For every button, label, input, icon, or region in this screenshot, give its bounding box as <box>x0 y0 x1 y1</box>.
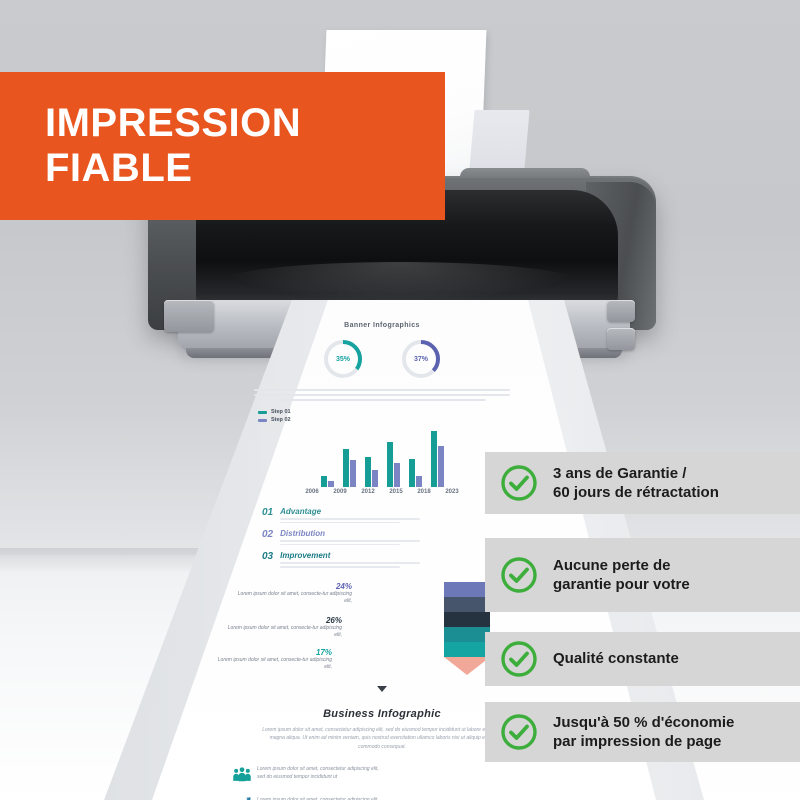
printer-button-upper-right <box>607 300 635 322</box>
funnel-label-3: 17% Lorem ipsum dolor sit amet, consecte… <box>216 648 332 672</box>
bar <box>343 449 349 487</box>
step-title: Advantage <box>280 507 420 516</box>
text-line <box>278 399 486 401</box>
text-line <box>280 522 400 524</box>
check-circle-icon <box>499 712 539 752</box>
axis-tick-label: 2018 <box>415 489 434 495</box>
axis-tick-label: 2023 <box>443 489 462 495</box>
bar-group <box>321 476 334 487</box>
check-circle-icon <box>499 639 539 679</box>
feature-line: Qualité constante <box>553 649 679 668</box>
step-title: Improvement <box>280 551 420 560</box>
bar <box>394 463 400 487</box>
feature-line: Aucune perte de <box>553 556 690 575</box>
funnel-text: Lorem ipsum dolor sit amet, consecte-tur… <box>226 625 342 640</box>
feature-row-1: 3 ans de Garantie / 60 jours de rétracta… <box>485 452 800 514</box>
printer-button-lower-right <box>607 328 635 350</box>
funnel-percent: 24% <box>236 582 352 591</box>
headline-line-2: FIABLE <box>45 146 445 191</box>
placeholder-text-block <box>232 389 532 401</box>
feature-line: 60 jours de rétractation <box>553 483 719 502</box>
feature-line: par impression de page <box>553 732 734 751</box>
donut-value-1: 35% <box>321 337 365 381</box>
bar <box>387 442 393 487</box>
text-line <box>280 566 400 568</box>
legend-swatch <box>258 411 267 414</box>
bar <box>328 481 334 487</box>
bar <box>350 460 356 487</box>
feature-text-3: Qualité constante <box>553 649 679 668</box>
step-number: 01 <box>262 507 273 518</box>
icon-feature-grid: Lorem ipsum dolor sit amet, consectetur … <box>232 765 532 800</box>
funnel-label-1: 24% Lorem ipsum dolor sit amet, consecte… <box>236 582 352 606</box>
check-circle-icon <box>499 463 539 503</box>
bar-group <box>343 449 356 487</box>
infographic-banner-title: Banner Infographics <box>232 322 532 329</box>
step-title: Distribution <box>280 529 420 538</box>
donut-chart-1: 35% <box>321 337 365 381</box>
bar-group <box>409 459 422 488</box>
text-line <box>280 518 420 520</box>
text-line <box>254 389 510 391</box>
bar <box>438 446 444 487</box>
funnel-text: Lorem ipsum dolor sit amet, consecte-tur… <box>216 657 332 672</box>
printer-button-left <box>164 300 214 332</box>
text-line <box>280 562 420 564</box>
text-line <box>280 540 420 542</box>
down-arrow-icon <box>377 686 387 692</box>
axis-tick-label: 2015 <box>387 489 406 495</box>
pencil-segment <box>444 627 490 642</box>
bar <box>365 457 371 487</box>
legend-label: Step 02 <box>271 417 291 423</box>
feature-line: garantie pour votre <box>553 575 690 594</box>
legend-item: Step 01 <box>258 409 532 415</box>
axis-tick-label: 2006 <box>303 489 322 495</box>
funnel-percent: 17% <box>216 648 332 657</box>
pencil-segment <box>444 642 490 657</box>
axis-tick-label: 2009 <box>331 489 350 495</box>
funnel-label-2: 26% Lorem ipsum dolor sit amet, consecte… <box>226 616 342 640</box>
feature-row-3: Qualité constante <box>485 632 800 686</box>
donut-chart-row: 35% 37% <box>232 337 532 381</box>
business-infographic-body: Lorem ipsum dolor sit amet, consectetur … <box>262 726 502 752</box>
feature-text-4: Jusqu'à 50 % d'économie par impression d… <box>553 713 734 751</box>
legend-item: Step 02 <box>258 417 532 423</box>
donut-value-2: 37% <box>399 337 443 381</box>
axis-tick-label: 2012 <box>359 489 378 495</box>
growth-chart-icon <box>232 796 252 800</box>
icon-feature-text: Lorem ipsum dolor sit amet, consectetur … <box>257 796 382 800</box>
funnel-text: Lorem ipsum dolor sit amet, consecte-tur… <box>236 591 352 606</box>
feature-line: 3 ans de Garantie / <box>553 464 719 483</box>
pencil-segment <box>444 582 490 597</box>
feature-line: Jusqu'à 50 % d'économie <box>553 713 734 732</box>
donut-chart-2: 37% <box>399 337 443 381</box>
legend-swatch <box>258 419 267 422</box>
text-line <box>280 544 400 546</box>
feature-row-2: Aucune perte de garantie pour votre <box>485 538 800 612</box>
check-circle-icon <box>499 555 539 595</box>
icon-feature-cell: Lorem ipsum dolor sit amet, consectetur … <box>232 765 382 790</box>
bar-group <box>365 457 378 487</box>
pencil-segment <box>444 612 490 627</box>
pencil-segment <box>444 597 490 612</box>
bar <box>321 476 327 487</box>
people-group-icon <box>232 765 252 790</box>
printer-gloss-highlight <box>220 262 580 302</box>
icon-feature-text: Lorem ipsum dolor sit amet, consectetur … <box>257 765 382 781</box>
headline-line-1: IMPRESSION <box>45 101 445 146</box>
text-line <box>254 394 510 396</box>
bar <box>416 476 422 487</box>
pencil-graphic <box>444 582 490 675</box>
funnel-percent: 26% <box>226 616 342 625</box>
bar <box>409 459 415 488</box>
step-number: 03 <box>262 551 273 562</box>
bar <box>372 470 378 487</box>
legend-label: Step 01 <box>271 409 291 415</box>
feature-text-2: Aucune perte de garantie pour votre <box>553 556 690 594</box>
step-number: 02 <box>262 529 273 540</box>
headline-banner: IMPRESSION FIABLE <box>0 72 445 220</box>
bar-group <box>387 442 400 487</box>
chart-legend: Step 01Step 02 <box>258 409 532 423</box>
feature-text-1: 3 ans de Garantie / 60 jours de rétracta… <box>553 464 719 502</box>
poster-canvas: Banner Infographics 35% 37% <box>0 0 800 800</box>
pencil-tip <box>444 657 490 675</box>
bar-group <box>431 431 444 487</box>
bar <box>431 431 437 487</box>
feature-row-4: Jusqu'à 50 % d'économie par impression d… <box>485 702 800 762</box>
icon-feature-cell: Lorem ipsum dolor sit amet, consectetur … <box>232 796 382 800</box>
